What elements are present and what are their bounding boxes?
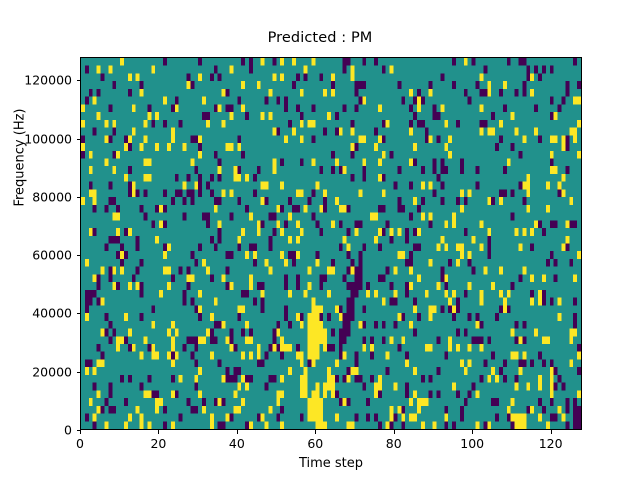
x-tick-mark: [158, 430, 159, 434]
y-axis-label: Frequency (Hz): [13, 98, 28, 218]
x-tick-mark: [394, 430, 395, 434]
x-tick-mark: [315, 430, 316, 434]
y-tick-label: 80000: [0, 189, 72, 204]
y-tick-label: 40000: [0, 306, 72, 321]
x-tick-mark: [472, 430, 473, 434]
x-tick-label: 100: [460, 436, 484, 451]
x-axis-label: Time step: [80, 456, 582, 471]
y-tick-label: 100000: [0, 131, 72, 146]
y-tick-mark: [77, 313, 81, 314]
x-tick-label: 20: [150, 436, 166, 451]
x-tick-label: 120: [539, 436, 563, 451]
x-tick-label: 80: [386, 436, 402, 451]
heatmap-axes: [80, 57, 582, 430]
x-tick-label: 40: [229, 436, 245, 451]
y-tick-mark: [77, 372, 81, 373]
matplotlib-figure: Predicted : PM 020406080100120 020000400…: [0, 0, 640, 480]
y-tick-mark: [77, 139, 81, 140]
x-tick-mark: [551, 430, 552, 434]
y-tick-mark: [77, 80, 81, 81]
page-title: Predicted : PM: [0, 30, 640, 46]
x-tick-label: 0: [76, 436, 84, 451]
heatmap-image: [81, 58, 581, 429]
y-tick-label: 20000: [0, 364, 72, 379]
x-tick-label: 60: [307, 436, 323, 451]
y-tick-label: 120000: [0, 73, 72, 88]
x-tick-mark: [237, 430, 238, 434]
x-tick-mark: [80, 430, 81, 434]
y-tick-label: 60000: [0, 248, 72, 263]
y-tick-label: 0: [0, 423, 72, 438]
y-tick-mark: [77, 255, 81, 256]
y-tick-mark: [77, 197, 81, 198]
y-tick-mark: [77, 430, 81, 431]
